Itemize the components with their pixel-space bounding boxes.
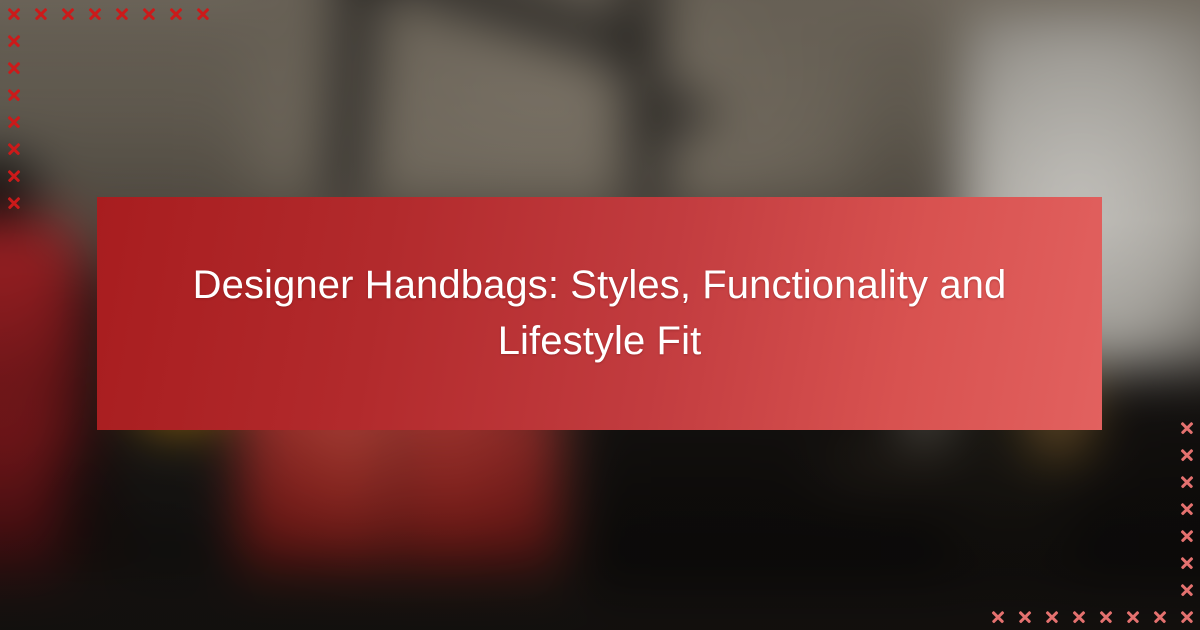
share-card-canvas: Designer Handbags: Styles, Functionality… — [0, 0, 1200, 630]
title-banner: Designer Handbags: Styles, Functionality… — [97, 197, 1102, 430]
page-title: Designer Handbags: Styles, Functionality… — [190, 258, 1010, 368]
